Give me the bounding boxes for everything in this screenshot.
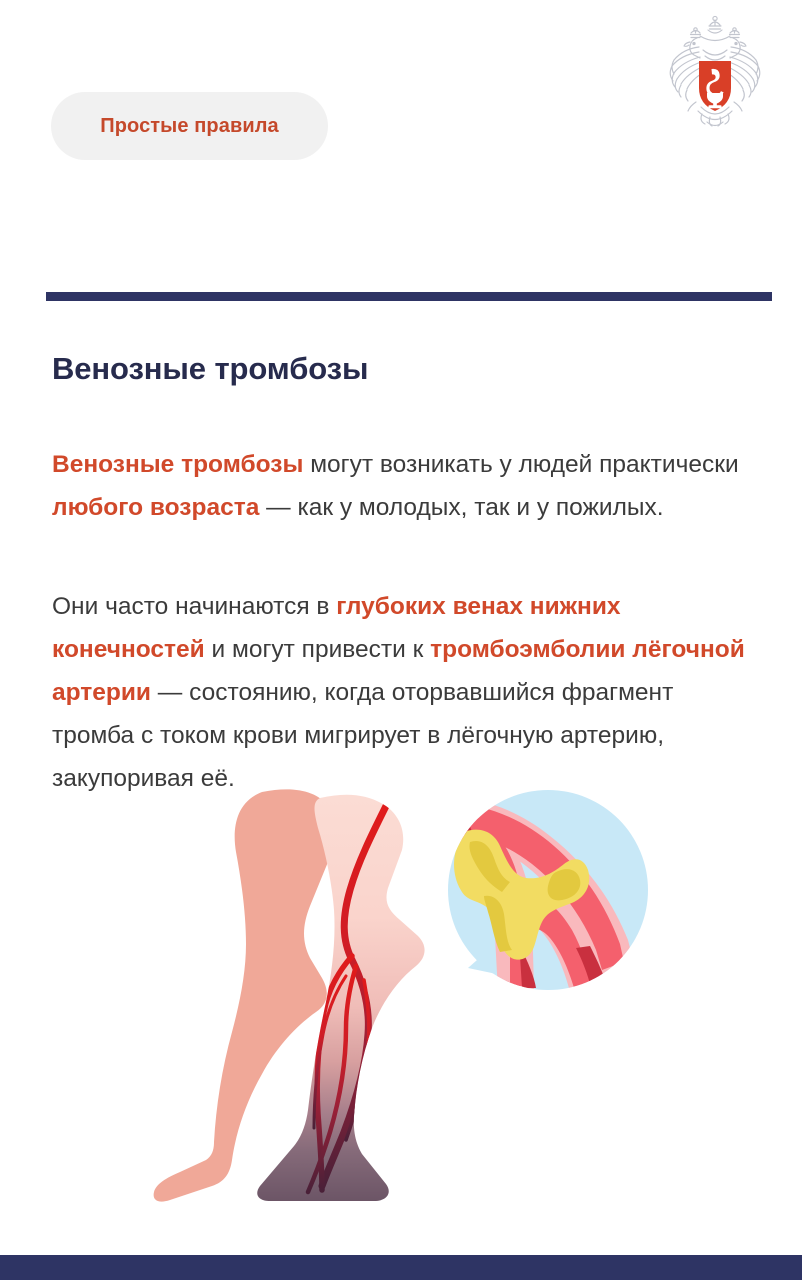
venous-thrombosis-leg-illustration xyxy=(150,780,670,1220)
section-divider-rule xyxy=(46,292,772,301)
page-title: Венозные тромбозы xyxy=(52,351,752,387)
paragraph-one: Венозные тромбозы могут возникать у люде… xyxy=(52,443,752,529)
body-text-run: и могут привести к xyxy=(205,636,430,663)
poster-page: Простые правила Венозные тромбозы Венозн… xyxy=(0,0,802,1280)
highlighted-term: любого возраста xyxy=(52,494,259,521)
russian-ministry-of-health-emblem xyxy=(655,14,775,132)
paragraph-two: Они часто начинаются в глубоких венах ни… xyxy=(52,585,752,800)
vessel-cross-section-callout xyxy=(430,790,648,992)
body-text-run: Они часто начинаются в xyxy=(52,593,336,620)
badge-label: Простые правила xyxy=(100,115,279,138)
highlighted-term: Венозные тромбозы xyxy=(52,451,303,478)
footer-bar xyxy=(0,1255,802,1280)
body-text-run: могут возникать у людей практически xyxy=(303,451,738,478)
badge-prostye-pravila: Простые правила xyxy=(51,92,328,160)
body-text-run: — как у молодых, так и у пожилых. xyxy=(259,494,663,521)
